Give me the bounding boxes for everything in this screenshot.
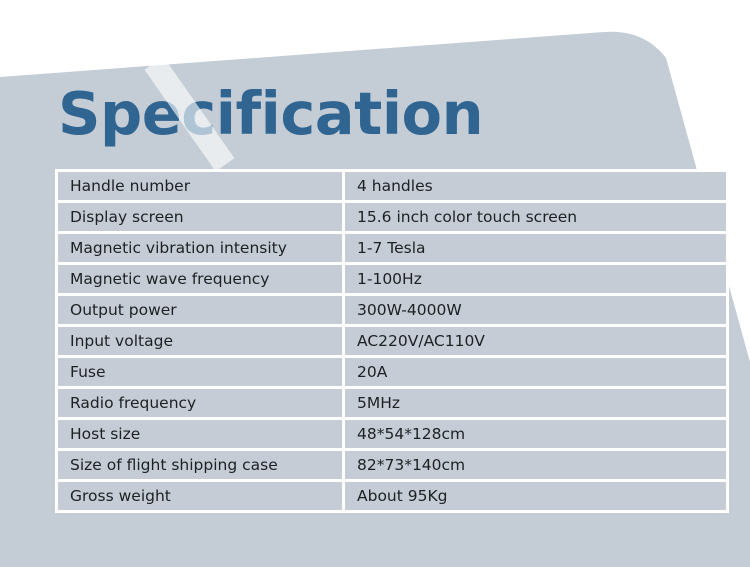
spec-value: 82*73*140cm [342, 448, 729, 479]
spec-key: Host size [55, 417, 342, 448]
table-row: Input voltage AC220V/AC110V [55, 324, 729, 355]
spec-key: Size of flight shipping case [55, 448, 342, 479]
table-row: Size of flight shipping case 82*73*140cm [55, 448, 729, 479]
spec-key: Fuse [55, 355, 342, 386]
page-title-text: Specification [58, 68, 483, 160]
spec-key: Display screen [55, 200, 342, 231]
specification-table-body: Handle number 4 handles Display screen 1… [55, 169, 729, 513]
table-row: Gross weight About 95Kg [55, 479, 729, 513]
spec-value: About 95Kg [342, 479, 729, 513]
spec-key: Magnetic wave frequency [55, 262, 342, 293]
table-row: Radio frequency 5MHz [55, 386, 729, 417]
spec-key: Gross weight [55, 479, 342, 513]
spec-value: 300W-4000W [342, 293, 729, 324]
spec-value: 1-100Hz [342, 262, 729, 293]
spec-key: Radio frequency [55, 386, 342, 417]
spec-value: 48*54*128cm [342, 417, 729, 448]
table-row: Fuse 20A [55, 355, 729, 386]
table-row: Magnetic wave frequency 1-100Hz [55, 262, 729, 293]
specification-table: Handle number 4 handles Display screen 1… [55, 169, 729, 513]
spec-value: 4 handles [342, 169, 729, 200]
spec-value: 20A [342, 355, 729, 386]
specification-slide: Specification Handle number 4 handles Di… [0, 0, 750, 567]
spec-value: 5MHz [342, 386, 729, 417]
table-row: Display screen 15.6 inch color touch scr… [55, 200, 729, 231]
spec-key: Output power [55, 293, 342, 324]
spec-key: Magnetic vibration intensity [55, 231, 342, 262]
spec-key: Input voltage [55, 324, 342, 355]
spec-key: Handle number [55, 169, 342, 200]
table-row: Magnetic vibration intensity 1-7 Tesla [55, 231, 729, 262]
spec-value: 15.6 inch color touch screen [342, 200, 729, 231]
table-row: Host size 48*54*128cm [55, 417, 729, 448]
page-title: Specification [58, 68, 478, 160]
table-row: Output power 300W-4000W [55, 293, 729, 324]
spec-value: 1-7 Tesla [342, 231, 729, 262]
spec-value: AC220V/AC110V [342, 324, 729, 355]
table-row: Handle number 4 handles [55, 169, 729, 200]
